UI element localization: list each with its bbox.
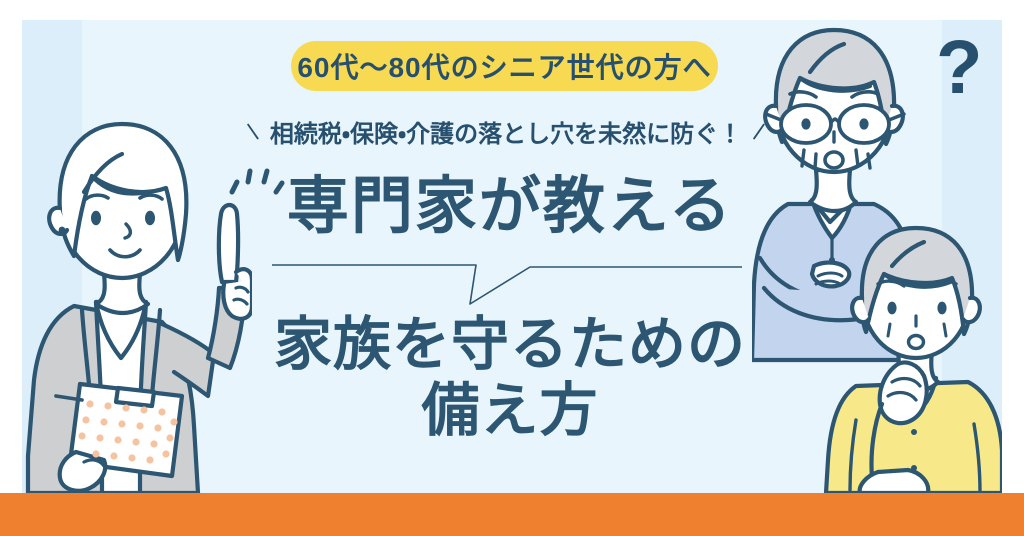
speech-bubble-tail-divider bbox=[272, 258, 742, 310]
senior-advice-banner: ? 60代～80代のシニア世代の方へ 相続税・保険・介護の落とし穴を未然に防ぐ！… bbox=[0, 0, 1024, 536]
bottom-accent-bar bbox=[0, 493, 1024, 536]
headline-secondary-line1: 家族を守るための bbox=[274, 312, 746, 377]
slash-right-icon bbox=[752, 113, 766, 149]
subtitle-text: 相続税・保険・介護の落とし穴を未然に防ぐ！ bbox=[270, 114, 742, 149]
sparkle-icon bbox=[226, 166, 288, 216]
slash-left-icon bbox=[246, 113, 260, 149]
audience-badge: 60代～80代のシニア世代の方へ bbox=[291, 41, 718, 91]
headline-secondary-line2: 備え方 bbox=[250, 378, 770, 444]
headline-primary: 専門家が教える bbox=[280, 176, 740, 238]
headline-secondary: 家族を守るための 備え方 bbox=[250, 312, 770, 443]
subtitle-row: 相続税・保険・介護の落とし穴を未然に防ぐ！ bbox=[246, 112, 766, 150]
female-advisor-illustration bbox=[22, 96, 252, 493]
question-mark-icon: ? bbox=[936, 30, 982, 106]
